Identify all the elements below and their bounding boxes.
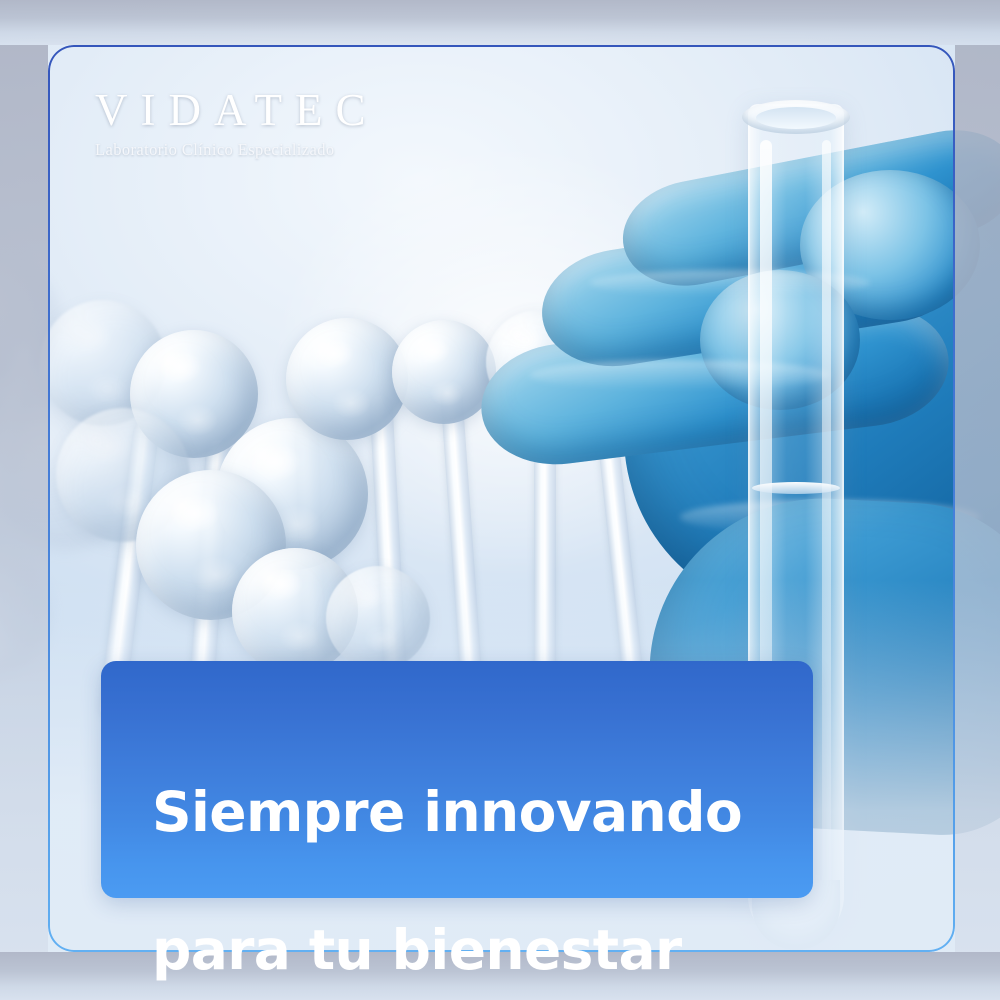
brand-tagline: Laboratorio Clínico Especializado <box>95 140 378 160</box>
molecule-sphere <box>286 318 408 440</box>
brand-logo: VIDATEC Laboratorio Clínico Especializad… <box>95 88 378 160</box>
headline-banner: Siempre innovando para tu bienestar <box>101 661 813 898</box>
brand-name: VIDATEC <box>95 88 378 133</box>
headline-text: Siempre innovando para tu bienestar <box>152 709 793 1000</box>
headline-line-1: Siempre innovando <box>152 778 793 847</box>
test-tube-rim-inner <box>756 107 836 129</box>
headline-line-2: para tu bienestar <box>152 916 793 985</box>
social-media-post: VIDATEC Laboratorio Clínico Especializad… <box>0 0 1000 1000</box>
test-tube-meniscus <box>752 482 840 494</box>
